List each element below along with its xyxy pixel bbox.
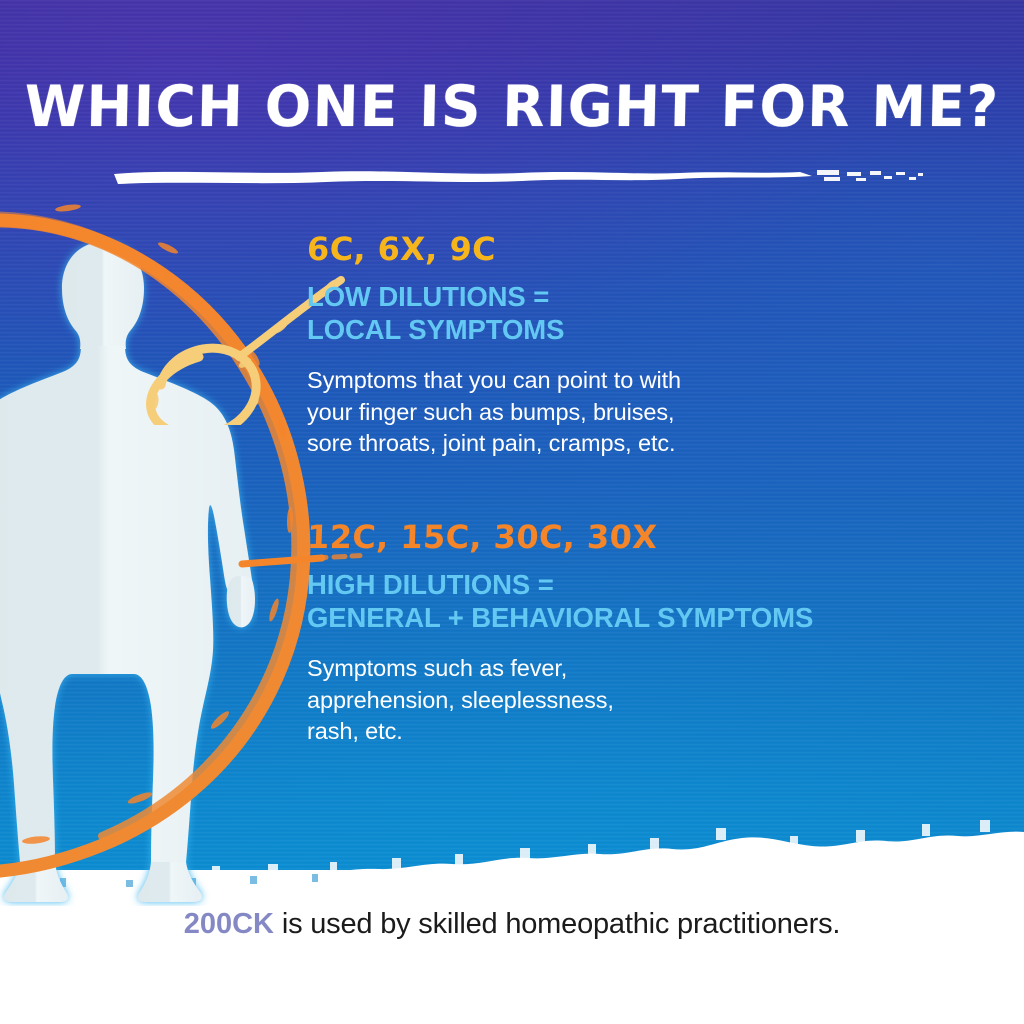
body-high-line1: Symptoms such as fever, — [307, 653, 967, 685]
footer-text: is used by skilled homeopathic practitio… — [274, 908, 840, 940]
subhead-low-line1: LOW DILUTIONS = — [307, 280, 967, 314]
white-brush-underline — [112, 163, 924, 189]
potency-label-low: 6C, 6X, 9C — [306, 232, 967, 268]
body-low-line3: sore throats, joint pain, cramps, etc. — [307, 428, 967, 460]
dilution-block-high: 12C, 15C, 30C, 30X HIGH DILUTIONS = GENE… — [307, 520, 967, 748]
body-low-line1: Symptoms that you can point to with — [307, 365, 967, 397]
body-high-line3: rash, etc. — [307, 716, 967, 748]
subhead-high-line2: GENERAL + BEHAVIORAL SYMPTOMS — [307, 601, 967, 635]
dilution-block-low: 6C, 6X, 9C LOW DILUTIONS = LOCAL SYMPTOM… — [307, 232, 967, 460]
subhead-low: LOW DILUTIONS = LOCAL SYMPTOMS — [307, 280, 967, 347]
subhead-high: HIGH DILUTIONS = GENERAL + BEHAVIORAL SY… — [307, 568, 967, 635]
page-title: WHICH ONE IS RIGHT FOR ME? — [0, 78, 1024, 137]
footer-potency-label: 200CK — [184, 908, 274, 940]
footer-note: 200CK is used by skilled homeopathic pra… — [0, 908, 1024, 941]
body-high: Symptoms such as fever, apprehension, sl… — [307, 653, 967, 748]
infographic-poster: WHICH ONE IS RIGHT FOR ME? 6C, 6X, 9C LO… — [0, 0, 1024, 1024]
subhead-high-line1: HIGH DILUTIONS = — [307, 568, 967, 602]
body-high-line2: apprehension, sleeplessness, — [307, 685, 967, 717]
main-title-text: WHICH ONE IS RIGHT FOR ME? — [20, 78, 1004, 137]
body-low-line2: your finger such as bumps, bruises, — [307, 397, 967, 429]
potency-label-high: 12C, 15C, 30C, 30X — [306, 520, 967, 556]
subhead-low-line2: LOCAL SYMPTOMS — [307, 313, 967, 347]
body-low: Symptoms that you can point to with your… — [307, 365, 967, 460]
content-column: 6C, 6X, 9C LOW DILUTIONS = LOCAL SYMPTOM… — [307, 232, 967, 748]
human-body-silhouette — [0, 236, 258, 906]
